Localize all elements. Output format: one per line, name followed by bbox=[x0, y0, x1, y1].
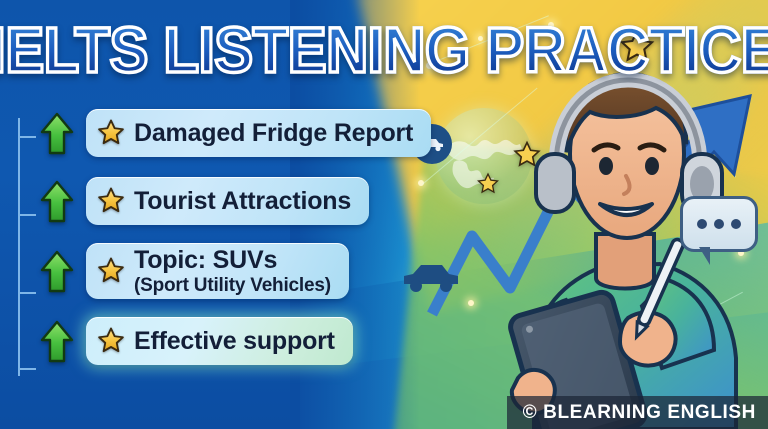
watermark-text: © BLEARNING ENGLISH bbox=[523, 402, 756, 424]
star-icon bbox=[96, 326, 126, 356]
thumbnail-canvas: IELTS LISTENING PRACTICE bbox=[0, 0, 768, 429]
up-arrow-icon bbox=[40, 249, 74, 293]
star-icon bbox=[476, 172, 500, 201]
page-title: IELTS LISTENING PRACTICE bbox=[0, 16, 768, 83]
topic-text: Damaged Fridge Report bbox=[134, 119, 413, 148]
topic-pill[interactable]: Damaged Fridge Report bbox=[86, 109, 431, 157]
topic-sublabel: (Sport Utility Vehicles) bbox=[134, 275, 331, 296]
topic-text: Topic: SUVs (Sport Utility Vehicles) bbox=[134, 246, 331, 296]
star-icon bbox=[96, 118, 126, 148]
up-arrow-icon bbox=[40, 111, 74, 155]
topic-label: Topic: SUVs bbox=[134, 246, 331, 275]
topic-text: Effective support bbox=[134, 327, 335, 356]
topic-pill[interactable]: Effective support bbox=[86, 317, 353, 365]
bubble-dot bbox=[714, 219, 724, 229]
topic-label: Tourist Attractions bbox=[134, 187, 351, 216]
star-icon bbox=[96, 186, 126, 216]
speech-bubble-icon bbox=[680, 196, 758, 252]
list-item[interactable]: Effective support bbox=[0, 312, 470, 370]
topic-pill[interactable]: Topic: SUVs (Sport Utility Vehicles) bbox=[86, 243, 349, 299]
list-item[interactable]: Topic: SUVs (Sport Utility Vehicles) bbox=[0, 240, 470, 302]
bubble-dot bbox=[731, 219, 741, 229]
up-arrow-icon bbox=[40, 319, 74, 363]
up-arrow-icon bbox=[40, 179, 74, 223]
bubble-dot bbox=[697, 219, 707, 229]
topic-pill[interactable]: Tourist Attractions bbox=[86, 177, 369, 225]
topic-text: Tourist Attractions bbox=[134, 187, 351, 216]
topic-label: Effective support bbox=[134, 327, 335, 356]
title-banner: IELTS LISTENING PRACTICE bbox=[0, 14, 768, 86]
star-icon bbox=[96, 256, 126, 286]
list-item[interactable]: Tourist Attractions bbox=[0, 172, 470, 230]
watermark: © BLEARNING ENGLISH bbox=[507, 396, 768, 429]
topic-list: Damaged Fridge Report Tourist Attraction… bbox=[0, 104, 470, 380]
list-item[interactable]: Damaged Fridge Report bbox=[0, 104, 470, 162]
topic-label: Damaged Fridge Report bbox=[134, 119, 413, 148]
